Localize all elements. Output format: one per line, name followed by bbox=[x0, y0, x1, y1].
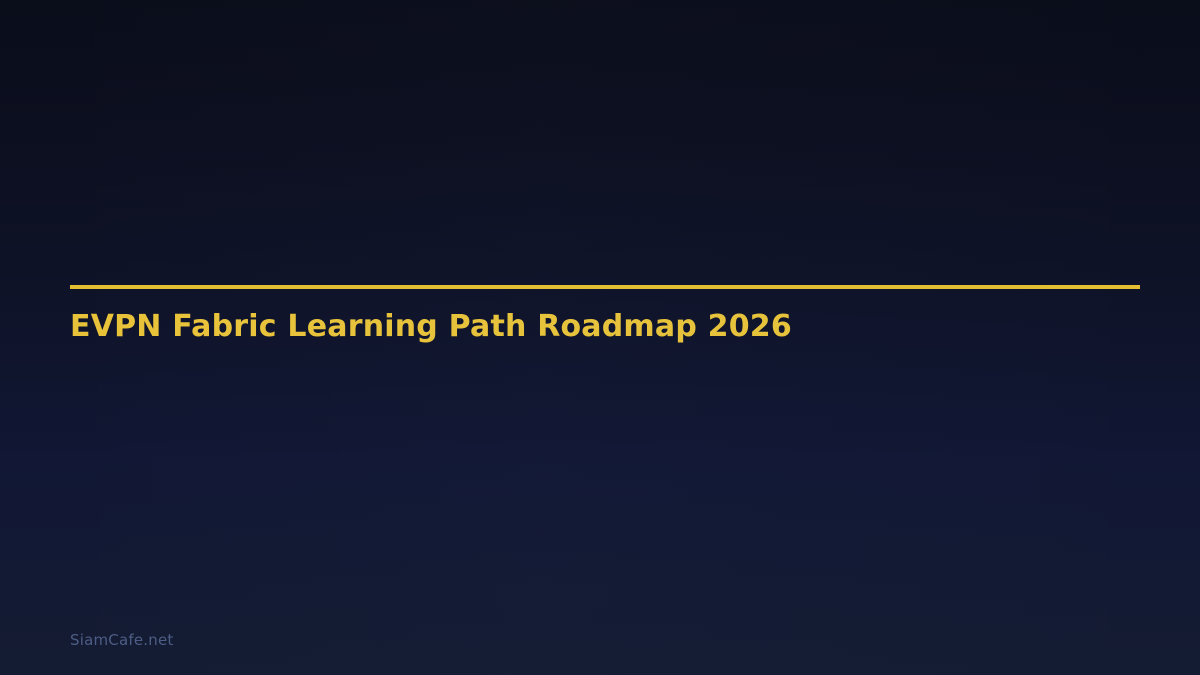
footer-brand-label: SiamCafe.net bbox=[70, 630, 173, 650]
page-title: EVPN Fabric Learning Path Roadmap 2026 bbox=[70, 308, 792, 346]
gold-accent-rule bbox=[70, 285, 1140, 289]
title-block: EVPN Fabric Learning Path Roadmap 2026 bbox=[70, 285, 1140, 289]
title-slide: EVPN Fabric Learning Path Roadmap 2026 S… bbox=[0, 0, 1200, 675]
